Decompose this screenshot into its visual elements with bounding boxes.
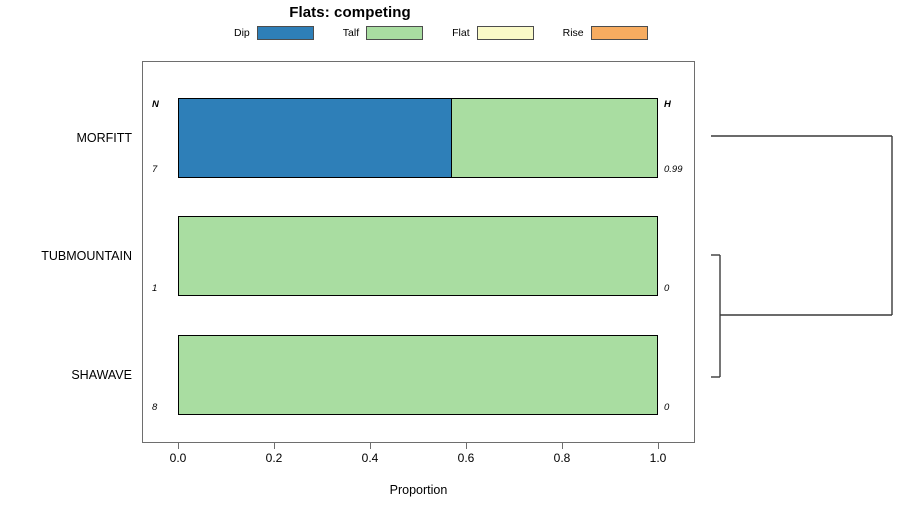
legend-label-rise: Rise	[563, 28, 584, 39]
bar-track	[178, 335, 658, 415]
chart-title: Flats: competing	[0, 4, 700, 21]
bar-segment-talf[interactable]	[451, 99, 657, 177]
legend: Dip Talf Flat Rise	[234, 24, 648, 42]
x-axis-title: Proportion	[142, 483, 695, 497]
dendrogram-svg	[700, 61, 900, 443]
legend-swatch-flat	[477, 26, 534, 40]
category-label-tubmountain: TUBMOUNTAIN	[0, 249, 132, 263]
x-tick-label: 0.2	[254, 451, 294, 465]
bar-segment-dip[interactable]	[179, 99, 451, 177]
bar-segment-talf[interactable]	[179, 217, 657, 295]
figure: Flats: competing Dip Talf Flat Rise MORF…	[0, 0, 900, 520]
n-value-morfitt: 7	[152, 164, 157, 175]
legend-spacer	[314, 33, 343, 34]
x-tick-label: 1.0	[638, 451, 678, 465]
n-value-tubmountain: 1	[152, 283, 157, 294]
h-value-shawave: 0	[664, 402, 669, 413]
x-tick	[562, 443, 563, 449]
legend-label-talf: Talf	[343, 28, 359, 39]
legend-swatch-talf	[366, 26, 423, 40]
category-label-morfitt: MORFITT	[0, 131, 132, 145]
legend-spacer	[534, 33, 563, 34]
legend-item-dip[interactable]: Dip	[234, 24, 314, 42]
x-tick-label: 0.8	[542, 451, 582, 465]
bar-row-morfitt	[178, 98, 658, 178]
bar-row-tubmountain	[178, 216, 658, 296]
x-tick	[658, 443, 659, 449]
bar-track	[178, 98, 658, 178]
n-value-shawave: 8	[152, 402, 157, 413]
legend-item-flat[interactable]: Flat	[452, 24, 534, 42]
x-tick	[178, 443, 179, 449]
x-tick	[370, 443, 371, 449]
x-tick-label: 0.0	[158, 451, 198, 465]
n-column-header: N	[152, 99, 159, 110]
legend-label-dip: Dip	[234, 28, 250, 39]
legend-label-flat: Flat	[452, 28, 470, 39]
legend-spacer	[423, 33, 452, 34]
h-column-header: H	[664, 99, 671, 110]
legend-item-rise[interactable]: Rise	[563, 24, 648, 42]
bar-track	[178, 216, 658, 296]
legend-swatch-rise	[591, 26, 648, 40]
category-label-shawave: SHAWAVE	[0, 368, 132, 382]
bar-row-shawave	[178, 335, 658, 415]
x-tick-label: 0.6	[446, 451, 486, 465]
x-tick	[274, 443, 275, 449]
h-value-tubmountain: 0	[664, 283, 669, 294]
legend-swatch-dip	[257, 26, 314, 40]
x-tick-label: 0.4	[350, 451, 390, 465]
legend-item-talf[interactable]: Talf	[343, 24, 423, 42]
h-value-morfitt: 0.99	[664, 164, 683, 175]
x-tick	[466, 443, 467, 449]
x-axis: 0.0 0.2 0.4 0.6 0.8 1.0	[0, 443, 900, 483]
dendrogram	[700, 61, 900, 443]
bar-segment-talf[interactable]	[179, 336, 657, 414]
